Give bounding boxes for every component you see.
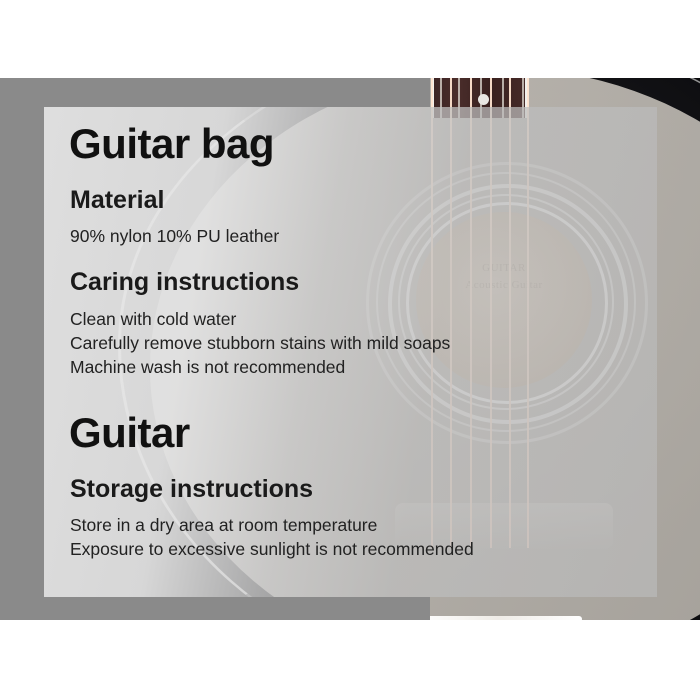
material-value: 90% nylon 10% PU leather	[70, 224, 279, 248]
storage-instruction-line: Store in a dry area at room temperature	[70, 513, 474, 537]
caring-instruction-line: Carefully remove stubborn stains with mi…	[70, 331, 450, 355]
product-image-canvas: GUITAR Acoustic Guitar Guitar bag	[0, 0, 700, 700]
caring-instruction-line: Clean with cold water	[70, 307, 450, 331]
guitar-saddle	[414, 616, 582, 620]
heading-material: Material	[70, 186, 164, 215]
frame-band-left	[0, 78, 44, 620]
section-title-guitar: Guitar	[69, 412, 190, 454]
caring-instructions-list: Clean with cold water Carefully remove s…	[70, 307, 450, 379]
caring-instruction-line: Machine wash is not recommended	[70, 355, 450, 379]
fret-inlay-dot	[478, 94, 489, 105]
info-overlay-panel: Guitar bag Material 90% nylon 10% PU lea…	[44, 107, 657, 597]
heading-caring-instructions: Caring instructions	[70, 268, 299, 297]
storage-instruction-line: Exposure to excessive sunlight is not re…	[70, 537, 474, 561]
frame-band-top	[0, 78, 430, 107]
frame-band-bottom	[0, 597, 430, 620]
heading-storage-instructions: Storage instructions	[70, 475, 313, 504]
section-title-guitar-bag: Guitar bag	[69, 123, 274, 165]
storage-instructions-list: Store in a dry area at room temperature …	[70, 513, 474, 561]
